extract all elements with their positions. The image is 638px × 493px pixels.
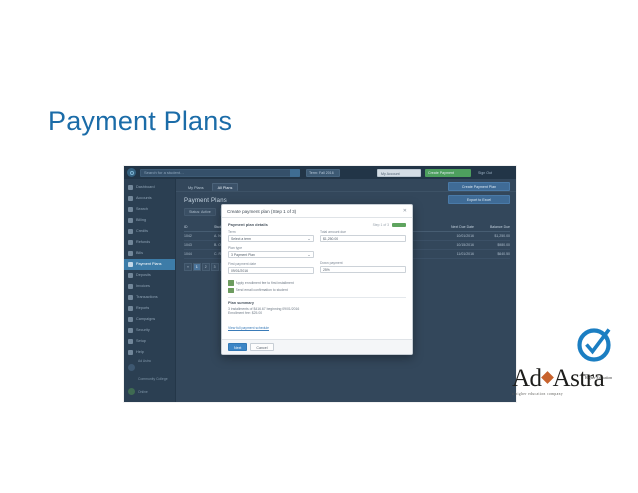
modal-body: Payment plan details Step 1 of 3 Term Se… <box>222 218 412 339</box>
app-screenshot: Search for a student… Term: Fall 2016 My… <box>124 166 516 402</box>
sidebar-item-accounts[interactable]: Accounts <box>124 193 175 204</box>
logo-tagline: a higher education company <box>512 392 610 396</box>
app-topbar: Search for a student… Term: Fall 2016 My… <box>124 166 516 179</box>
sidebar-item-label: Payment Plans <box>136 262 162 267</box>
invoice-icon <box>128 218 133 223</box>
folder-icon <box>128 196 133 201</box>
sidebar-item-setup[interactable]: Setup <box>124 336 175 347</box>
step-label: Step 1 of 3 <box>373 223 389 227</box>
page-title: Payment Plans <box>48 104 232 138</box>
checkbox-icon[interactable] <box>228 280 234 286</box>
sidebar-item-label: Reports <box>136 306 149 311</box>
sidebar-item-invoices[interactable]: Invoices <box>124 281 175 292</box>
status-badge <box>128 388 135 395</box>
return-icon <box>128 240 133 245</box>
cell-balance: $640.50 <box>474 252 510 256</box>
field-label: Term <box>228 230 314 234</box>
field-down-payment: Down payment 25% <box>320 261 406 273</box>
search-icon <box>128 207 133 212</box>
modal-title: Create payment plan (Step 1 of 3) <box>227 209 296 214</box>
sidebar-item-label: Dashboard <box>136 185 155 190</box>
wordmark-ad: Ad <box>512 365 542 392</box>
column-header[interactable]: Next Due Date <box>418 225 474 229</box>
sidebar-item-search[interactable]: Search <box>124 204 175 215</box>
sidebar-item-label: Billing <box>136 218 146 223</box>
sign-out-button[interactable]: Sign Out <box>475 169 511 177</box>
cell-id: 1044 <box>184 252 214 256</box>
cell-next-due: 10/01/2016 <box>418 234 474 238</box>
cancel-button[interactable]: Cancel <box>250 343 273 351</box>
cell-id: 1042 <box>184 234 214 238</box>
sidebar-status: Online <box>128 388 175 395</box>
filter-status[interactable]: Status: Active <box>184 208 216 216</box>
gear-icon <box>128 339 133 344</box>
bank-icon <box>128 273 133 278</box>
field-total-amount-due: Total amount due $1,250.00 <box>320 230 406 242</box>
pagination-page-2[interactable]: 2 <box>202 263 210 271</box>
sidebar-item-reports[interactable]: Reports <box>124 303 175 314</box>
search-placeholder-text: Search for a student… <box>141 170 184 176</box>
plan-type-select[interactable]: 3 Payment Plan <box>228 251 314 258</box>
sidebar-item-refunds[interactable]: Refunds <box>124 237 175 248</box>
org-avatar <box>128 364 135 371</box>
summary-title: Plan summary <box>228 301 406 305</box>
doc-icon <box>128 284 133 289</box>
progress-bar <box>392 223 406 227</box>
list-icon <box>128 251 133 256</box>
field-first-payment-date: First payment date 09/01/2016 <box>228 262 314 274</box>
cell-next-due: 10/15/2016 <box>418 243 474 247</box>
sidebar-org: Ad Astra Community College <box>128 349 175 385</box>
field-label: Plan type <box>228 246 314 250</box>
adastra-logo: AdAstra Higher Education a higher educat… <box>512 366 610 400</box>
create-payment-plan-button[interactable]: Create Payment Plan <box>448 182 510 191</box>
pagination-prev[interactable]: « <box>184 263 192 271</box>
cell-balance: $980.00 <box>474 243 510 247</box>
create-payment-plan-modal: Create payment plan (Step 1 of 3) ✕ Paym… <box>221 204 413 355</box>
sidebar-item-credits[interactable]: Credits <box>124 226 175 237</box>
pagination-page-3[interactable]: 3 <box>211 263 219 271</box>
sidebar-item-payment-plans[interactable]: Payment Plans <box>124 259 175 270</box>
sidebar-item-label: Refunds <box>136 240 150 245</box>
sidebar-item-deposits[interactable]: Deposits <box>124 270 175 281</box>
cell-id: 1043 <box>184 243 214 247</box>
my-account-button[interactable]: My Account <box>377 169 421 177</box>
logo-superscript: Higher Education <box>585 366 612 391</box>
export-to-excel-button[interactable]: Export to Excel <box>448 195 510 204</box>
sidebar-item-label: Bills <box>136 251 143 256</box>
step-progress: Step 1 of 3 <box>373 223 406 227</box>
home-icon <box>128 185 133 190</box>
form-column-left: Term Select a term Plan type 3 Payment P… <box>228 230 314 278</box>
modal-section-header: Payment plan details Step 1 of 3 <box>228 222 406 227</box>
field-plan-type: Plan type 3 Payment Plan <box>228 246 314 258</box>
field-spacer <box>320 246 406 257</box>
sidebar-item-label: Deposits <box>136 273 151 278</box>
modal-footer: Next Cancel <box>222 339 412 354</box>
sidebar-item-label: Security <box>136 328 150 333</box>
megaphone-icon <box>128 317 133 322</box>
cell-balance: $1,250.00 <box>474 234 510 238</box>
create-payment-button[interactable]: Create Payment <box>425 169 471 177</box>
first-payment-date-input[interactable]: 09/01/2016 <box>228 267 314 274</box>
section-title: Payment plan details <box>228 222 268 227</box>
column-header[interactable]: Balance Due <box>474 225 510 229</box>
checkbox-label: Send email confirmation to student <box>236 288 288 292</box>
sidebar-item-label: Campaigns <box>136 317 155 322</box>
field-label: First payment date <box>228 262 314 266</box>
sidebar-item-dashboard[interactable]: Dashboard <box>124 182 175 193</box>
app-circle-logo-icon <box>127 168 136 177</box>
shield-icon <box>128 328 133 333</box>
modal-form: Term Select a term Plan type 3 Payment P… <box>228 230 406 278</box>
checkbox-icon[interactable] <box>228 288 234 294</box>
sidebar-item-transactions[interactable]: Transactions <box>124 292 175 303</box>
divider <box>228 297 406 298</box>
sidebar-item-label: Setup <box>136 339 146 344</box>
status-label: Online <box>138 390 148 394</box>
column-header[interactable]: ID <box>184 225 214 229</box>
sidebar-item-campaigns[interactable]: Campaigns <box>124 314 175 325</box>
search-input[interactable]: Search for a student… <box>140 169 300 177</box>
down-payment-input[interactable]: 25% <box>320 266 406 273</box>
check-circle-icon <box>575 323 617 365</box>
term-select[interactable]: Select a term <box>228 235 314 242</box>
term-context-select[interactable]: Term: Fall 2016 <box>306 169 340 177</box>
sidebar-item-label: Accounts <box>136 196 152 201</box>
card-icon <box>128 229 133 234</box>
tab-all-plans[interactable]: All Plans <box>212 183 239 191</box>
cell-next-due: 11/01/2016 <box>418 252 474 256</box>
org-name-line1: Ad Astra <box>138 359 151 363</box>
adastra-wordmark: AdAstra Higher Education <box>512 366 610 391</box>
org-name-line2: Community College <box>138 377 168 381</box>
sidebar-item-label: Credits <box>136 229 148 234</box>
sidebar-item-bills[interactable]: Bills <box>124 248 175 259</box>
sidebar-item-label: Search <box>136 207 148 212</box>
diamond-icon <box>541 371 554 384</box>
total-amount-due-input[interactable]: $1,250.00 <box>320 235 406 242</box>
sidebar: Dashboard Accounts Search Billing Credit… <box>124 179 176 402</box>
view-schedule-link[interactable]: View full payment schedule <box>228 326 269 330</box>
pagination-page-1[interactable]: 1 <box>193 263 201 271</box>
tab-my-plans[interactable]: My Plans <box>182 183 210 191</box>
sidebar-footer: Ad Astra Community College Online <box>124 349 175 398</box>
chart-icon <box>128 306 133 311</box>
checkbox-email-confirmation[interactable]: Send email confirmation to student <box>228 288 406 294</box>
checkbox-label: Apply enrollment fee to first installmen… <box>236 281 294 285</box>
close-icon[interactable]: ✕ <box>403 209 407 214</box>
search-icon[interactable] <box>290 169 300 177</box>
content-action-buttons: Create Payment Plan Export to Excel <box>448 182 510 204</box>
field-term: Term Select a term <box>228 230 314 242</box>
field-label: Total amount due <box>320 230 406 234</box>
field-label: Down payment <box>320 261 406 265</box>
modal-header: Create payment plan (Step 1 of 3) ✕ <box>222 205 412 218</box>
topbar-actions: My Account Create Payment Sign Out <box>377 169 513 177</box>
calendar-icon <box>128 262 133 267</box>
next-button[interactable]: Next <box>228 343 247 351</box>
transfer-icon <box>128 295 133 300</box>
sidebar-item-billing[interactable]: Billing <box>124 215 175 226</box>
checkbox-enrollment-fee[interactable]: Apply enrollment fee to first installmen… <box>228 280 406 286</box>
form-column-right: Total amount due $1,250.00 Down payment … <box>320 230 406 278</box>
summary-line: Enrollment fee: $25.00 <box>228 311 406 316</box>
sidebar-item-label: Transactions <box>136 295 158 300</box>
sidebar-item-label: Invoices <box>136 284 150 289</box>
sidebar-item-security[interactable]: Security <box>124 325 175 336</box>
